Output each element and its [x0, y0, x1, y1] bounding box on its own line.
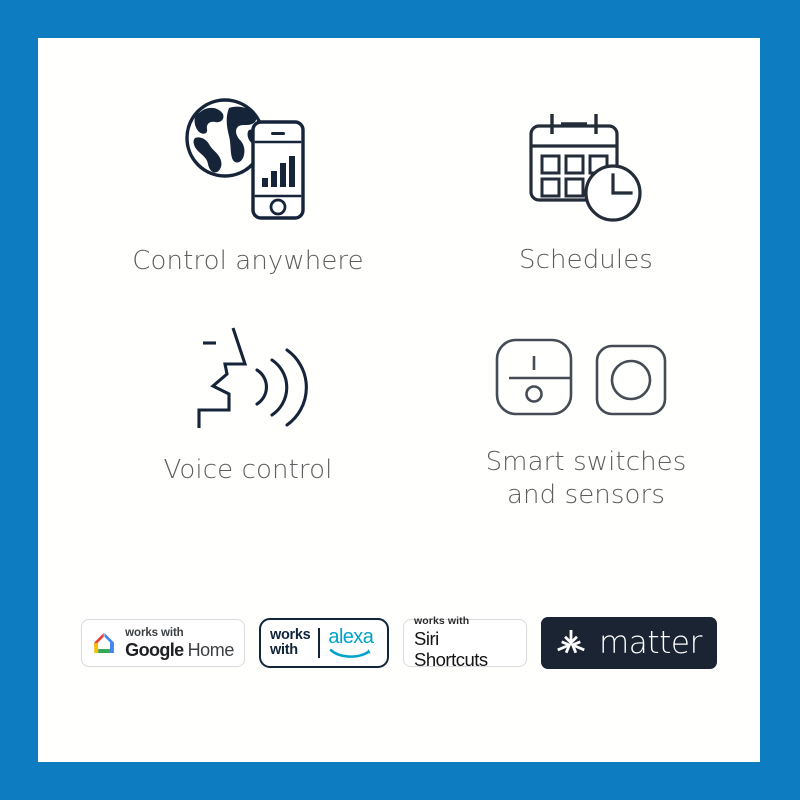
alexa-logo: alexa — [328, 627, 373, 659]
speaking-head-icon — [187, 324, 309, 430]
google-home-house-icon — [92, 629, 116, 657]
white-content-card: Control anywhere — [38, 38, 760, 762]
alexa-wordmark: alexa — [328, 627, 373, 647]
badge-matter[interactable]: matter — [541, 617, 717, 669]
calendar-clock-icon — [521, 108, 651, 226]
badge-divider — [318, 628, 320, 658]
google-badge-text: works with Google Home — [125, 627, 234, 659]
badge-works-with-google-home[interactable]: works with Google Home — [81, 619, 245, 667]
compatibility-badges: works with Google Home works with alexa — [38, 608, 760, 678]
feature-label: Control anywhere — [132, 245, 364, 278]
home-wordmark: Home — [188, 641, 234, 659]
works-with-label: works with — [270, 628, 310, 659]
google-wordmark: Google — [125, 641, 183, 659]
matter-arrows-icon — [555, 627, 587, 659]
google-home-wordmark: Google Home — [125, 641, 234, 659]
badge-works-with-alexa[interactable]: works with alexa — [259, 618, 389, 668]
feature-schedules: Schedules — [436, 108, 736, 277]
feature-smart-switches-and-sensors: Smart switches and sensors — [436, 336, 736, 513]
feature-label: Schedules — [519, 244, 653, 277]
switch-sensor-icon — [493, 336, 679, 418]
matter-wordmark: matter — [599, 628, 702, 659]
feature-control-anywhere: Control anywhere — [98, 90, 398, 278]
feature-voice-control: Voice control — [98, 324, 398, 487]
badge-works-with-siri-shortcuts[interactable]: works with Siri Shortcuts — [403, 619, 527, 667]
feature-grid: Control anywhere — [38, 90, 760, 580]
feature-label: Voice control — [164, 454, 333, 487]
promo-image-frame: Control anywhere — [0, 0, 800, 800]
globe-phone-icon — [173, 90, 323, 225]
alexa-smile-icon — [329, 648, 373, 659]
siri-shortcuts-wordmark: Siri Shortcuts — [414, 629, 516, 670]
works-with-label: works with — [125, 627, 234, 640]
feature-label: Smart switches and sensors — [486, 446, 687, 513]
works-with-label: works with — [414, 616, 469, 628]
